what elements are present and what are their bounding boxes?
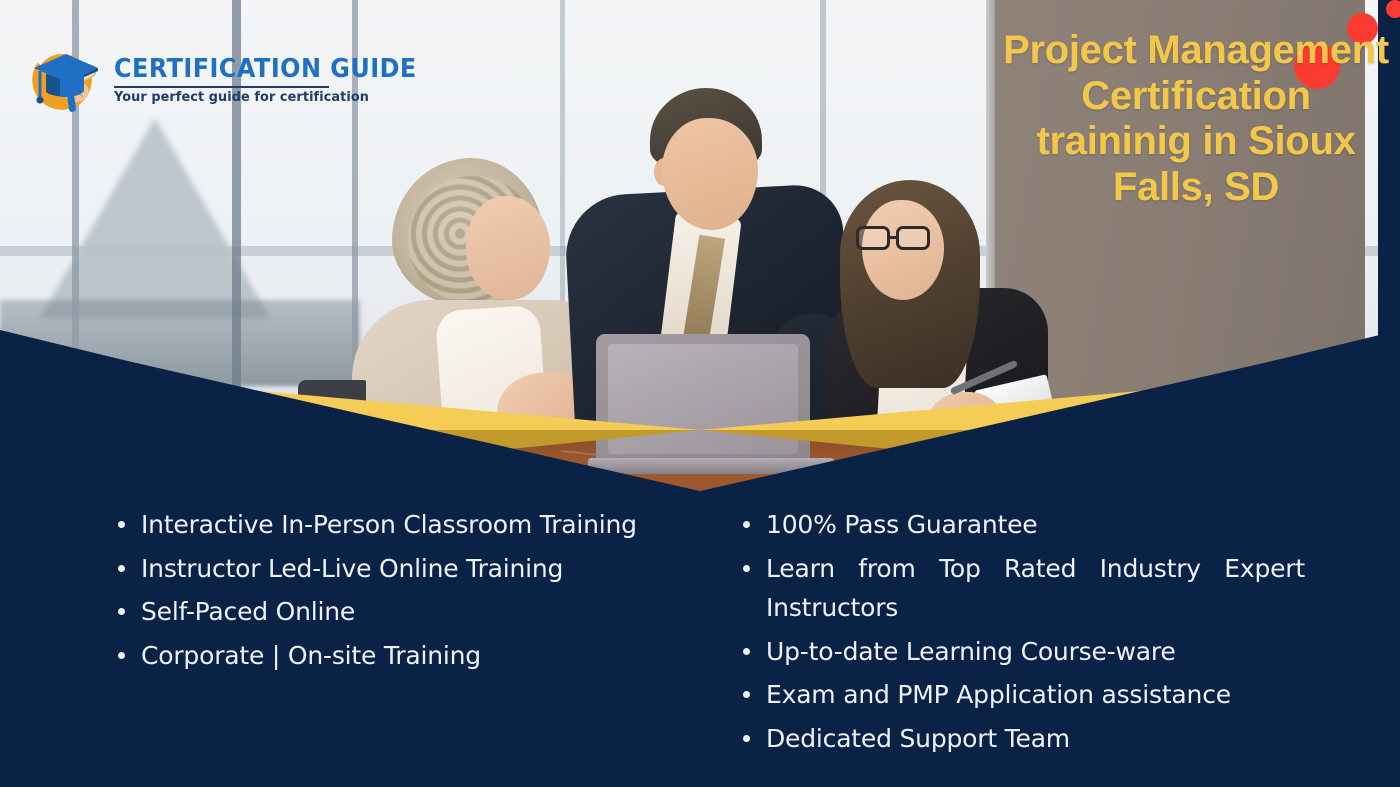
graduation-cap-diploma-icon bbox=[26, 44, 110, 116]
logo-title: CERTIFICATION GUIDE bbox=[114, 56, 417, 82]
page-title: Project Management Certification trainin… bbox=[1000, 28, 1392, 210]
feature-list-left: Interactive In-Person Classroom Training… bbox=[110, 505, 690, 679]
list-item: Exam and PMP Application assistance bbox=[735, 675, 1305, 715]
logo-tagline: Your perfect guide for certification bbox=[114, 91, 427, 105]
red-dot-icon bbox=[1386, 0, 1400, 18]
list-item: Dedicated Support Team bbox=[735, 719, 1305, 759]
feature-list-right: 100% Pass Guarantee Learn from Top Rated… bbox=[735, 505, 1305, 762]
list-item: 100% Pass Guarantee bbox=[735, 505, 1305, 545]
brand-logo[interactable]: CERTIFICATION GUIDE Your perfect guide f… bbox=[26, 44, 443, 116]
list-item: Corporate | On-site Training bbox=[110, 636, 690, 676]
promo-banner: M bbox=[0, 0, 1400, 787]
list-item: Learn from Top Rated Industry Expert Ins… bbox=[735, 549, 1305, 628]
list-item: Interactive In-Person Classroom Training bbox=[110, 505, 690, 545]
logo-wordmark: CERTIFICATION GUIDE Your perfect guide f… bbox=[114, 56, 443, 105]
list-item: Self-Paced Online bbox=[110, 592, 690, 632]
list-item: Up-to-date Learning Course-ware bbox=[735, 632, 1305, 672]
list-item: Instructor Led-Live Online Training bbox=[110, 549, 690, 589]
logo-divider bbox=[114, 86, 329, 88]
